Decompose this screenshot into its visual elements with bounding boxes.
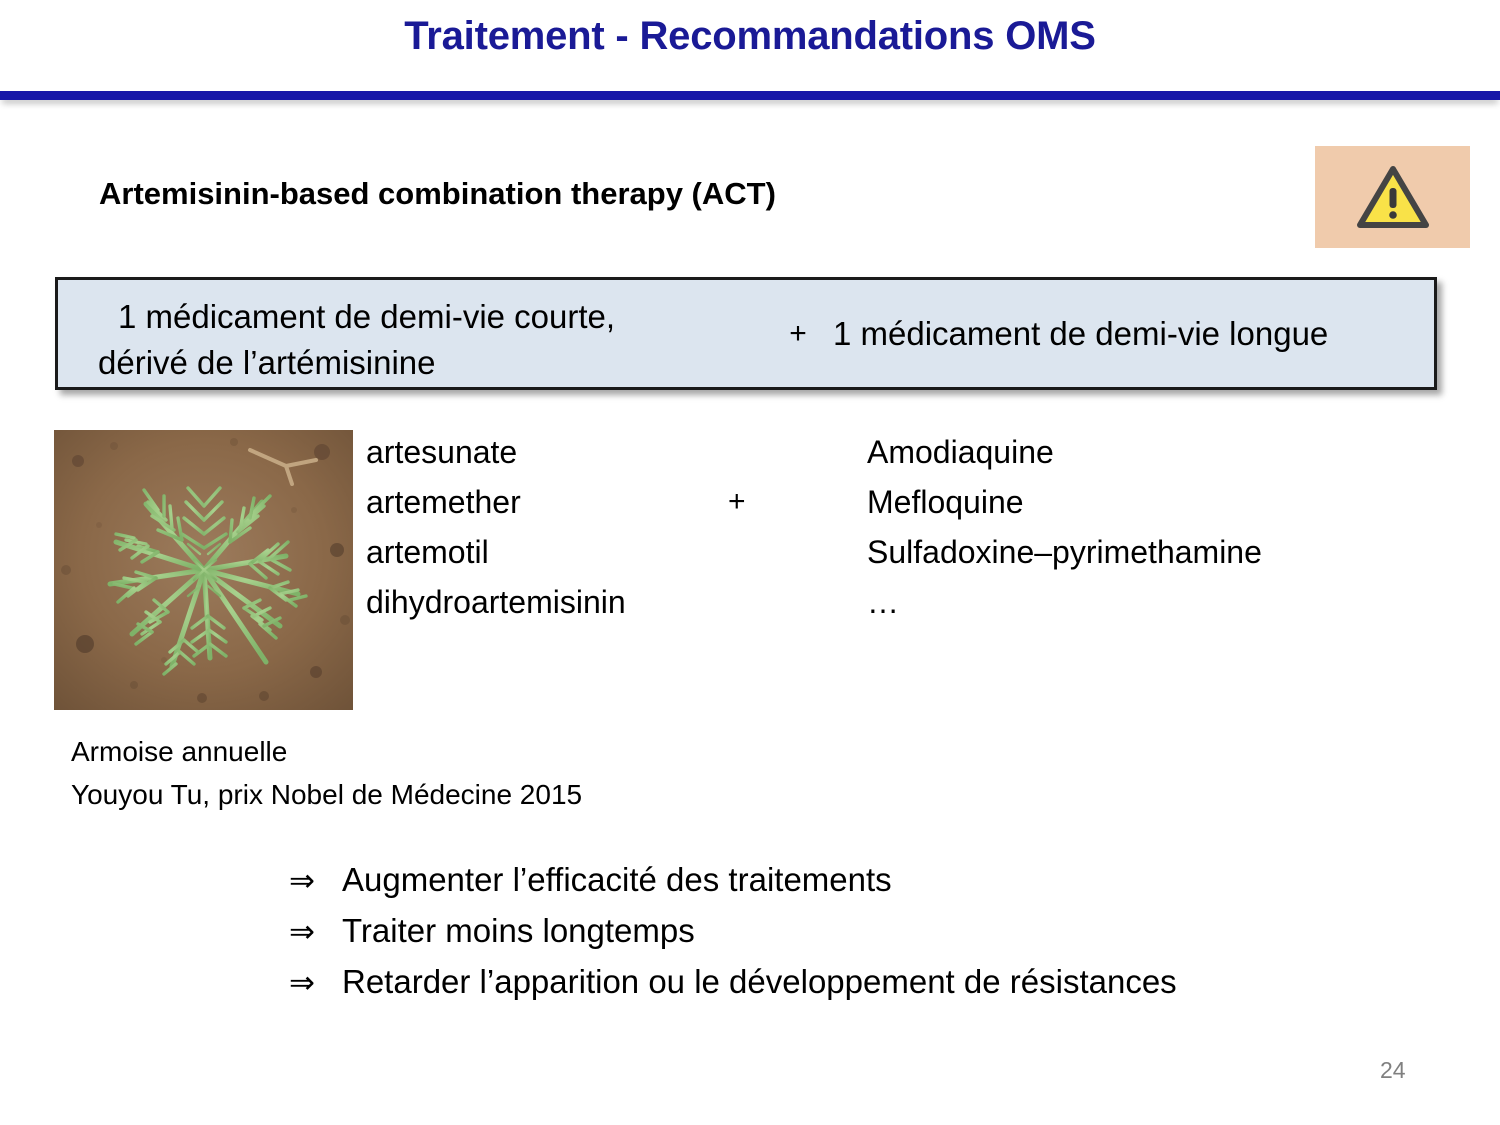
artemisia-annua-photo [54, 430, 353, 710]
section-heading: Artemisinin-based combination therapy (A… [99, 176, 776, 212]
short-half-life-line-2: dérivé de l’artémisinine [98, 340, 708, 386]
long-half-life-drug-list: Amodiaquine Mefloquine Sulfadoxine–pyrim… [867, 427, 1262, 627]
page-title: Traitement - Recommandations OMS [0, 14, 1500, 59]
outcome-label: Traiter moins longtemps [342, 906, 695, 956]
short-half-life-line-1: 1 médicament de demi-vie courte, [98, 294, 708, 340]
photo-caption-line-2: Youyou Tu, prix Nobel de Médecine 2015 [71, 773, 582, 816]
list-item: artemotil [366, 527, 626, 577]
list-item: Sulfadoxine–pyrimethamine [867, 527, 1262, 577]
warning-badge [1315, 146, 1470, 248]
list-item: ⇒ Augmenter l’efficacité des traitements [289, 855, 1177, 906]
drug-list-plus-operator: + [728, 477, 746, 527]
list-item: dihydroartemisinin [366, 577, 626, 627]
page-number: 24 [1380, 1057, 1406, 1084]
list-item: Amodiaquine [867, 427, 1262, 477]
short-half-life-drug-list: artesunate artemether artemotil dihydroa… [366, 427, 626, 627]
short-half-life-description: 1 médicament de demi-vie courte, dérivé … [98, 294, 708, 385]
outcomes-list: ⇒ Augmenter l’efficacité des traitements… [289, 855, 1177, 1008]
long-half-life-description: 1 médicament de demi-vie longue [833, 280, 1328, 387]
combination-therapy-box: 1 médicament de demi-vie courte, dérivé … [55, 277, 1437, 390]
photo-caption: Armoise annuelle Youyou Tu, prix Nobel d… [71, 730, 582, 816]
double-arrow-icon: ⇒ [289, 958, 342, 1008]
outcome-label: Retarder l’apparition ou le développemen… [342, 957, 1177, 1007]
outcome-label: Augmenter l’efficacité des traitements [342, 855, 892, 905]
list-item: ⇒ Retarder l’apparition ou le développem… [289, 957, 1177, 1008]
list-item: artemether [366, 477, 626, 527]
double-arrow-icon: ⇒ [289, 907, 342, 957]
title-divider-rule [0, 91, 1500, 100]
list-item: Mefloquine [867, 477, 1262, 527]
double-arrow-icon: ⇒ [289, 856, 342, 906]
list-item: artesunate [366, 427, 626, 477]
list-item: … [867, 577, 1262, 627]
photo-caption-line-1: Armoise annuelle [71, 730, 582, 773]
list-item: ⇒ Traiter moins longtemps [289, 906, 1177, 957]
